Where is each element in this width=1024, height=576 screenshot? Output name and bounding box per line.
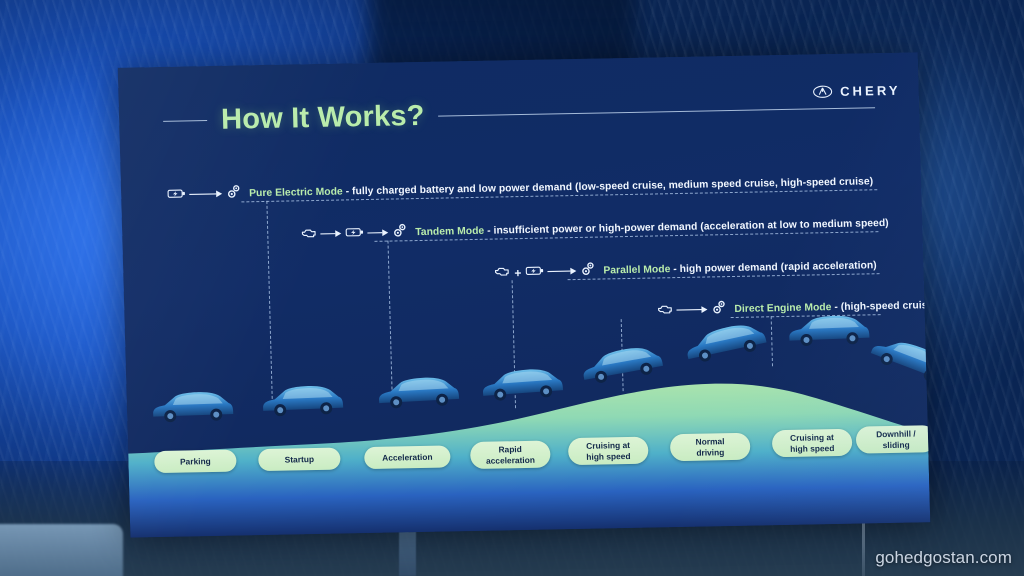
arrow-right-icon: [367, 224, 389, 242]
mode-icons-parallel: +: [493, 261, 597, 284]
stage-pill-parking[interactable]: Parking: [154, 450, 237, 474]
stage-pill-normal-driving[interactable]: Normaldriving: [670, 433, 751, 462]
mode-name: Pure Electric Mode: [249, 186, 343, 199]
battery-icon: [345, 225, 364, 243]
mode-label-pure-electric: Pure Electric Mode - fully charged batte…: [249, 176, 873, 199]
battery-icon: [167, 186, 186, 204]
car-cruising-high-speed-2: [784, 311, 871, 348]
mode-label-parallel: Parallel Mode - high power demand (rapid…: [603, 260, 877, 276]
car-rapid-acceleration: [477, 363, 565, 403]
mode-row-pure-electric: Pure Electric Mode - fully charged batte…: [167, 171, 874, 206]
battery-icon: [525, 263, 544, 281]
plus-sign-icon: +: [513, 266, 522, 280]
car-normal-driving: [679, 316, 770, 367]
title-rule-left: [163, 120, 207, 122]
mode-icons-direct-engine: [656, 299, 728, 321]
title-rule-right: [439, 107, 875, 116]
watermark: gohedgostan.com: [875, 548, 1012, 568]
gears-icon: [226, 183, 243, 204]
car-parking: [148, 387, 235, 424]
connector-drop-1: [266, 201, 272, 399]
arrow-right-icon: [547, 262, 577, 281]
car-acceleration: [374, 372, 462, 411]
mode-description: - high power demand (rapid acceleration): [673, 260, 877, 275]
arrow-right-icon: [676, 301, 708, 320]
stage-pill-cruising-2[interactable]: Cruising athigh speed: [772, 429, 853, 458]
gears-icon: [392, 222, 409, 243]
mode-description: - insufficient power or high-power deman…: [487, 218, 889, 237]
slide-header: How It Works?: [163, 83, 876, 145]
page-title: How It Works?: [221, 99, 425, 136]
backdrop-podium: [0, 524, 123, 576]
stage-pill-acceleration[interactable]: Acceleration: [364, 445, 451, 469]
mode-name: Parallel Mode: [603, 264, 670, 276]
engine-icon: [493, 264, 510, 282]
mode-icons-pure-electric: [167, 183, 243, 205]
mode-row-tandem: Tandem Mode - insufficient power or high…: [300, 213, 889, 245]
mode-name: Tandem Mode: [415, 226, 484, 238]
mode-row-parallel: +: [493, 255, 877, 283]
mode-description: - fully charged battery and low power de…: [346, 176, 874, 197]
gears-icon: [711, 299, 728, 320]
stage-pill-cruising-1[interactable]: Cruising athigh speed: [568, 437, 649, 466]
brand-logo: CHERY: [813, 83, 901, 100]
engine-icon: [656, 302, 673, 320]
arrow-right-icon: [320, 225, 342, 243]
connector-drop-5: [771, 316, 773, 366]
chery-oval-emblem-icon: [813, 85, 833, 98]
engine-icon: [300, 225, 317, 243]
slide: How It Works? CHERY: [118, 52, 931, 537]
mode-icons-tandem: [300, 222, 409, 245]
brand-name: CHERY: [840, 83, 901, 99]
gears-icon: [580, 261, 597, 282]
stage-pill-startup[interactable]: Startup: [258, 448, 341, 472]
stage-pill-rapid-acceleration[interactable]: Rapidacceleration: [470, 441, 551, 470]
car-startup: [258, 381, 346, 418]
mode-label-tandem: Tandem Mode - insufficient power or high…: [415, 218, 889, 238]
arrow-right-icon: [189, 185, 223, 204]
presentation-screen: How It Works? CHERY: [118, 52, 931, 537]
stage-pill-downhill-sliding[interactable]: Downhill /sliding: [856, 425, 931, 454]
